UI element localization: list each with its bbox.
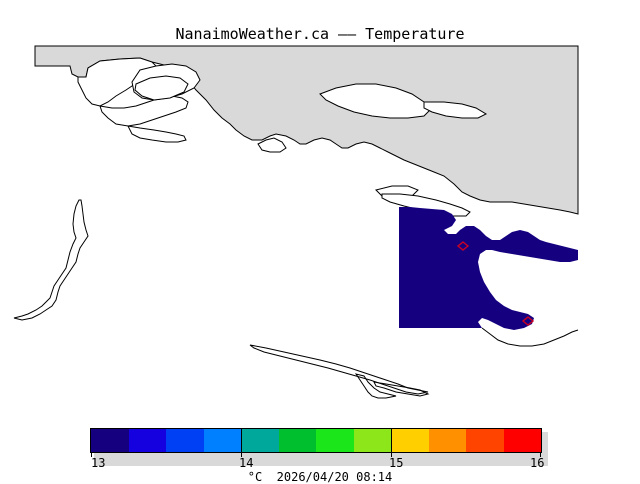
colorbar-label-13: 13 xyxy=(91,456,105,470)
colorbar: 13 14 15 16 °C 2026/04/20 08:14 xyxy=(0,418,640,480)
colorbar-segment-5 xyxy=(241,429,279,452)
island-west-long-outline xyxy=(14,200,88,320)
colorbar-segment-6 xyxy=(279,429,317,452)
temperature-band-13 xyxy=(399,207,578,330)
colorbar-label-15: 15 xyxy=(389,456,403,470)
colorbar-divider-15 xyxy=(391,428,392,453)
colorbar-segment-1 xyxy=(91,429,129,452)
colorbar-divider-14 xyxy=(241,428,242,453)
colorbar-segment-9 xyxy=(391,429,429,452)
temperature-overlay-layer xyxy=(399,207,578,330)
map-canvas[interactable] xyxy=(0,44,640,414)
colorbar-label-16: 16 xyxy=(530,456,544,470)
colorbar-segment-2 xyxy=(129,429,167,452)
land-layer xyxy=(35,46,578,216)
inlet-northwest-c xyxy=(128,126,186,142)
colorbar-segment-3 xyxy=(166,429,204,452)
colorbar-segment-12 xyxy=(504,429,542,452)
inlet-northwest-b xyxy=(100,96,188,126)
colorbar-segment-11 xyxy=(466,429,504,452)
map-graphic xyxy=(0,44,640,414)
colorbar-strip[interactable] xyxy=(90,428,542,453)
colorbar-segment-10 xyxy=(429,429,467,452)
page-title: NanaimoWeather.ca —— Temperature xyxy=(0,25,640,43)
colorbar-caption: °C 2026/04/20 08:14 xyxy=(0,470,640,484)
coast-south-mainland-outline xyxy=(482,328,578,346)
colorbar-segment-4 xyxy=(204,429,242,452)
colorbar-label-14: 14 xyxy=(239,456,253,470)
colorbar-segment-8 xyxy=(354,429,392,452)
weather-map-app: NanaimoWeather.ca —— Temperature xyxy=(0,0,640,480)
colorbar-segment-7 xyxy=(316,429,354,452)
